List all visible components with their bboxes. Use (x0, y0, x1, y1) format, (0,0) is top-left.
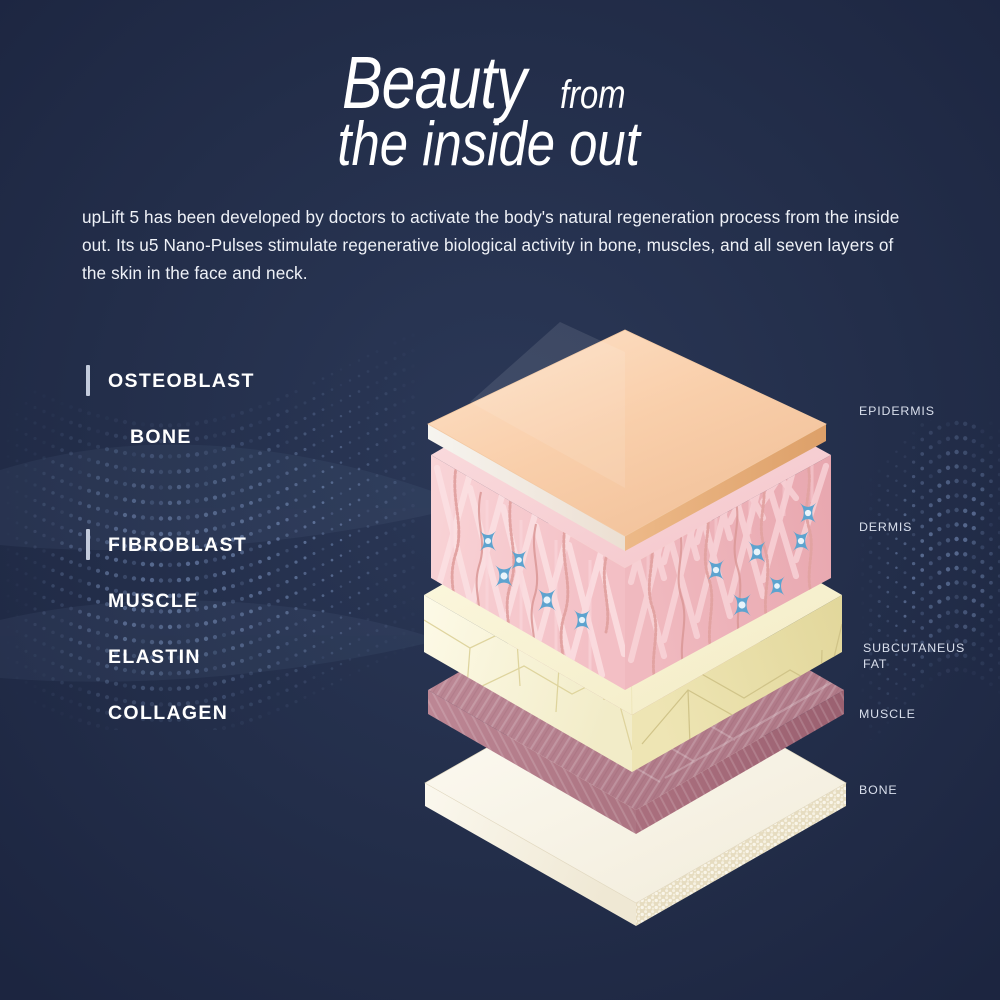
term-text: OSTEOBLAST (108, 370, 255, 392)
term-elastin: ELASTIN (86, 648, 201, 668)
term-label: OSTEOBLAST (86, 372, 255, 392)
callout-dermis: DERMIS (859, 520, 912, 536)
callout-epidermis: EPIDERMIS (859, 404, 935, 420)
term-label: BONE (108, 428, 192, 448)
layer-callout-list: EPIDERMIS DERMIS SUBCUTANEUS FAT MUSCLE … (855, 0, 1000, 1000)
headline-word-small: from (560, 75, 626, 115)
page-headline: Beautyfrom the inside out (0, 46, 820, 176)
term-text: MUSCLE (108, 590, 198, 612)
term-label: COLLAGEN (86, 704, 228, 724)
term-fibroblast: FIBROBLAST (86, 536, 247, 556)
headline-word-main: Beauty (342, 46, 526, 120)
headline-line-2: the inside out (0, 114, 640, 176)
headline-line-2-text: the inside out (338, 114, 640, 176)
accent-bar-icon (86, 365, 90, 396)
term-bone: BONE (108, 428, 192, 448)
term-label: MUSCLE (86, 592, 198, 612)
term-label: ELASTIN (86, 648, 201, 668)
term-label: FIBROBLAST (86, 536, 247, 556)
callout-subcutaneous-fat: SUBCUTANEUS FAT (863, 641, 965, 673)
term-text: BONE (130, 426, 192, 448)
term-text: ELASTIN (108, 646, 201, 668)
callout-bone: BONE (859, 783, 898, 799)
term-text: COLLAGEN (108, 702, 228, 724)
term-text: FIBROBLAST (108, 534, 247, 556)
callout-muscle: MUSCLE (859, 707, 916, 723)
term-muscle: MUSCLE (86, 592, 198, 612)
intro-paragraph: upLift 5 has been developed by doctors t… (82, 204, 910, 288)
term-osteoblast: OSTEOBLAST (86, 372, 255, 392)
term-collagen: COLLAGEN (86, 704, 228, 724)
accent-bar-icon (86, 529, 90, 560)
headline-line-1: Beautyfrom (0, 46, 640, 120)
